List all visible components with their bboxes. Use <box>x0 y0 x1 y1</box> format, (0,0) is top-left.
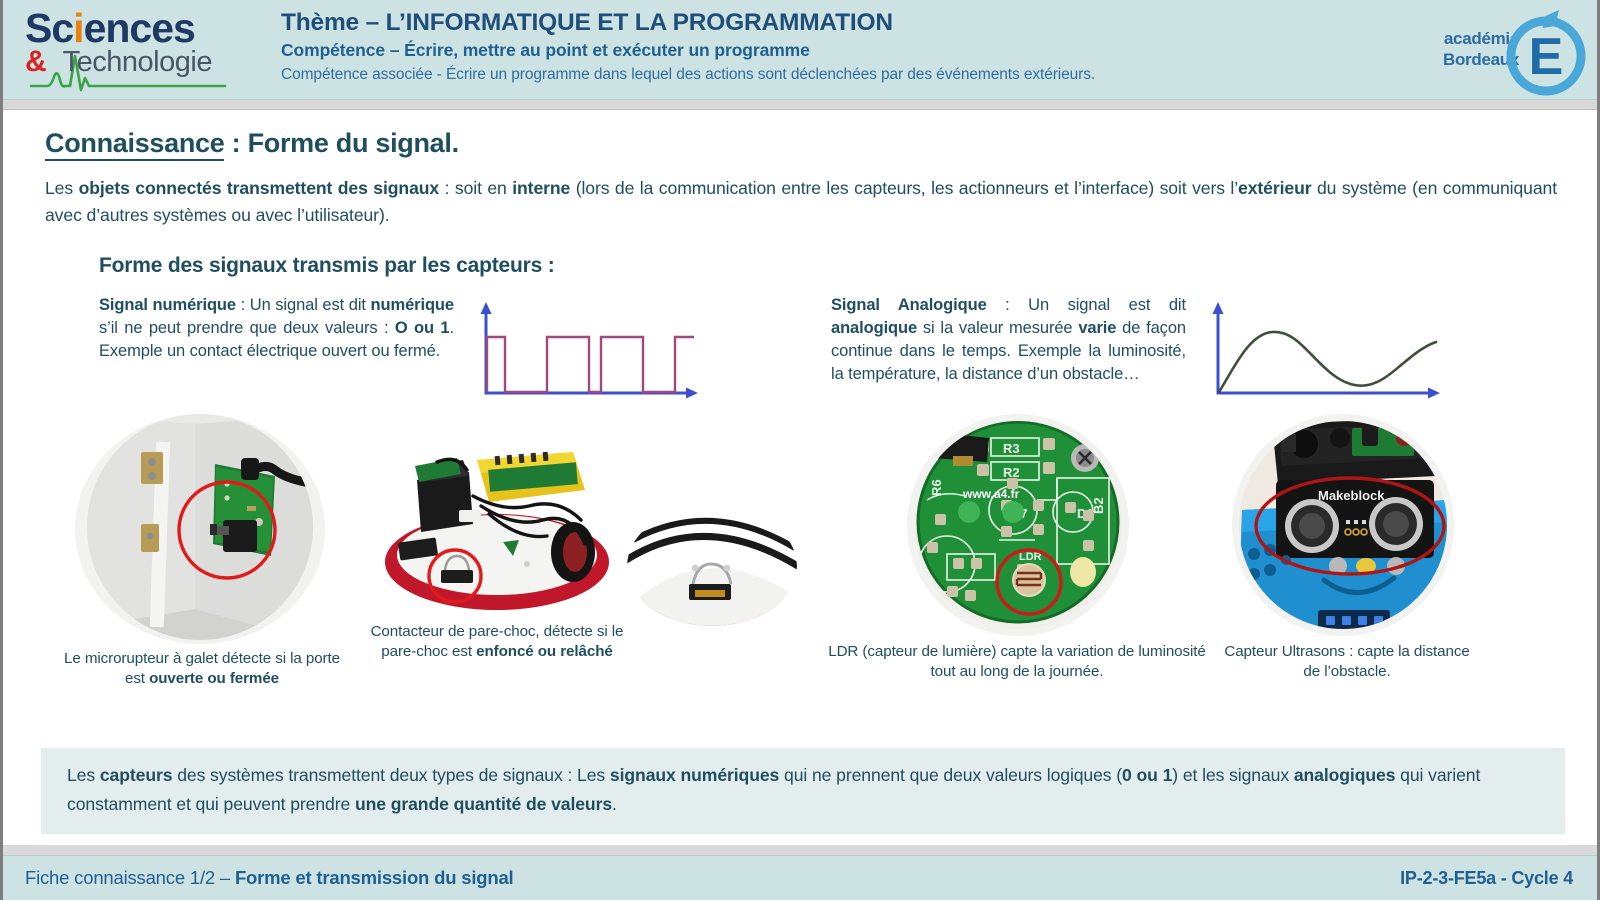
caption-ultrasonic: Capteur Ultrasons : capte la distance de… <box>1217 642 1477 682</box>
svg-text:E: E <box>1529 28 1564 86</box>
svg-text:R3: R3 <box>1003 441 1020 456</box>
caption-bumper: Contacteur de pare-choc, détecte si le p… <box>367 622 627 662</box>
document-body: Connaissance : Forme du signal. Les obje… <box>3 128 1597 714</box>
knowledge-label: Connaissance <box>45 128 224 161</box>
photo-microswitch-door <box>75 414 325 644</box>
digital-signal-block: Signal numérique : Un signal est dit num… <box>99 294 831 408</box>
knowledge-subject: : Forme du signal. <box>224 128 458 158</box>
photo-ultrasonic-mbot: Makeblock <box>1232 414 1454 636</box>
sciences-technologie-logo: Sciences & Technologie <box>3 0 235 99</box>
analog-curve-graph <box>1186 294 1563 408</box>
caption-microswitch: Le microrupteur à galet détecte si la po… <box>57 649 347 689</box>
logo-ampersand: & <box>25 46 47 78</box>
digital-signal-text: Signal numérique : Un signal est dit num… <box>99 294 454 408</box>
logo-sciences-text: Sciences <box>25 6 235 50</box>
analog-signal-block: Signal Analogique : Un signal est dit an… <box>831 294 1563 408</box>
competence-associee-text: Compétence associée - Écrire un programm… <box>281 63 1387 86</box>
document-page: Sciences & Technologie Thème – L’INFORMA… <box>0 0 1600 900</box>
photo-ldr-board: R3 R2 R7 R6 B2 D1 www.a4.fr <box>907 414 1129 636</box>
analog-signal-text: Signal Analogique : Un signal est dit an… <box>831 294 1186 408</box>
academie-bordeaux-block: académie Bordeaux E <box>1397 0 1597 99</box>
svg-text:R2: R2 <box>1003 465 1020 480</box>
logo-technologie-text: Technologie <box>63 46 212 78</box>
footer-reference-code: IP-2-3-FE5a - Cycle 4 <box>1400 868 1573 889</box>
section-heading: Forme des signaux transmis par les capte… <box>99 254 1573 278</box>
caption-ldr: LDR (capteur de lumière) capte la variat… <box>817 642 1217 682</box>
photo-gallery: R3 R2 R7 R6 B2 D1 www.a4.fr <box>27 414 1573 714</box>
pcb-url-label: www.a4.fr <box>962 487 1020 501</box>
summary-box: Les capteurs des systèmes transmettent d… <box>41 748 1565 834</box>
intro-paragraph: Les objets connectés transmettent des si… <box>45 175 1557 229</box>
footer-divider <box>3 845 1597 855</box>
signal-types-row: Signal numérique : Un signal est dit num… <box>27 294 1573 408</box>
square-wave-graph <box>454 294 831 408</box>
header-divider <box>3 100 1597 110</box>
theme-title: Thème – L’INFORMATIQUE ET LA PROGRAMMATI… <box>281 8 1387 38</box>
document-footer: Fiche connaissance 1/2 – Forme et transm… <box>3 855 1597 900</box>
mbot-brand-label: Makeblock <box>1318 488 1385 503</box>
photo-bumper-switch-robot <box>377 422 627 622</box>
photo-bumper-switch-closeup <box>627 506 797 626</box>
document-header: Sciences & Technologie Thème – L’INFORMA… <box>3 0 1597 100</box>
competence-title: Compétence – Écrire, mettre au point et … <box>281 38 1387 63</box>
svg-text:R6: R6 <box>929 479 944 496</box>
page-title: Connaissance : Forme du signal. <box>45 128 1573 159</box>
academie-bordeaux-logo: E <box>1497 4 1591 98</box>
footer-sheet-label: Fiche connaissance 1/2 – Forme et transm… <box>25 867 514 889</box>
header-title-block: Thème – L’INFORMATIQUE ET LA PROGRAMMATI… <box>235 0 1397 99</box>
